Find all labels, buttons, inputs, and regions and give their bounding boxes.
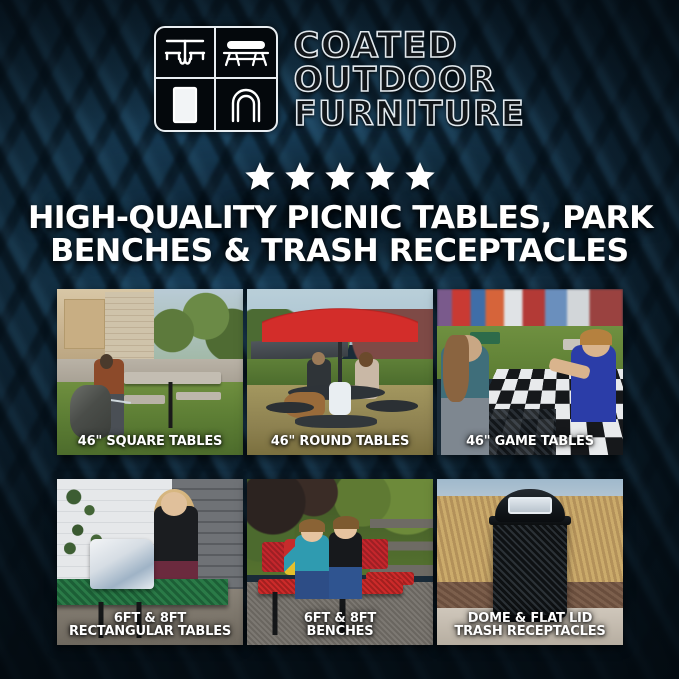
product-banner: COATED OUTDOOR FURNITURE HIGH-QUALITY PI… <box>0 0 679 679</box>
bike-rack-icon <box>216 79 276 130</box>
product-tile-benches[interactable]: 6FT & 8FT BENCHES <box>247 479 433 645</box>
logo-icon-grid <box>154 26 278 132</box>
star-icon <box>404 160 436 192</box>
photo-round-tables <box>247 289 433 455</box>
product-tile-trash-receptacles[interactable]: DOME & FLAT LID TRASH RECEPTACLES <box>437 479 623 645</box>
photo-square-tables <box>57 289 243 455</box>
wordmark-line-3: FURNITURE <box>294 98 526 131</box>
brand-wordmark: COATED OUTDOOR FURNITURE <box>294 27 526 132</box>
photo-game-tables <box>437 289 623 455</box>
product-tile-grid: 46" SQUARE TABLES 46" ROUND TABLES <box>57 289 623 645</box>
wordmark-line-2: OUTDOOR <box>294 64 496 97</box>
brand-logo: COATED OUTDOOR FURNITURE <box>0 26 679 132</box>
star-icon <box>244 160 276 192</box>
picnic-table-icon <box>156 28 216 79</box>
product-tile-game-tables[interactable]: 46" GAME TABLES <box>437 289 623 455</box>
product-tile-rectangular-tables[interactable]: 6FT & 8FT RECTANGULAR TABLES <box>57 479 243 645</box>
trash-receptacle-icon <box>156 79 216 130</box>
headline-line-2: BENCHES & TRASH RECEPTACLES <box>28 235 651 268</box>
product-tile-square-tables[interactable]: 46" SQUARE TABLES <box>57 289 243 455</box>
tile-caption: 46" ROUND TABLES <box>251 435 429 449</box>
star-icon <box>364 160 396 192</box>
star-rating <box>0 160 679 192</box>
tile-caption: 46" SQUARE TABLES <box>61 435 239 449</box>
headline-line-1: HIGH-QUALITY PICNIC TABLES, PARK <box>28 202 651 235</box>
bench-icon <box>216 28 276 79</box>
star-icon <box>284 160 316 192</box>
tile-caption: 46" GAME TABLES <box>441 435 619 449</box>
wordmark-line-1: COATED <box>294 29 459 63</box>
tile-caption: DOME & FLAT LID TRASH RECEPTACLES <box>441 612 619 639</box>
product-tile-round-tables[interactable]: 46" ROUND TABLES <box>247 289 433 455</box>
tile-caption: 6FT & 8FT BENCHES <box>251 612 429 639</box>
tile-caption: 6FT & 8FT RECTANGULAR TABLES <box>61 612 239 639</box>
headline: HIGH-QUALITY PICNIC TABLES, PARK BENCHES… <box>28 202 651 269</box>
star-icon <box>324 160 356 192</box>
